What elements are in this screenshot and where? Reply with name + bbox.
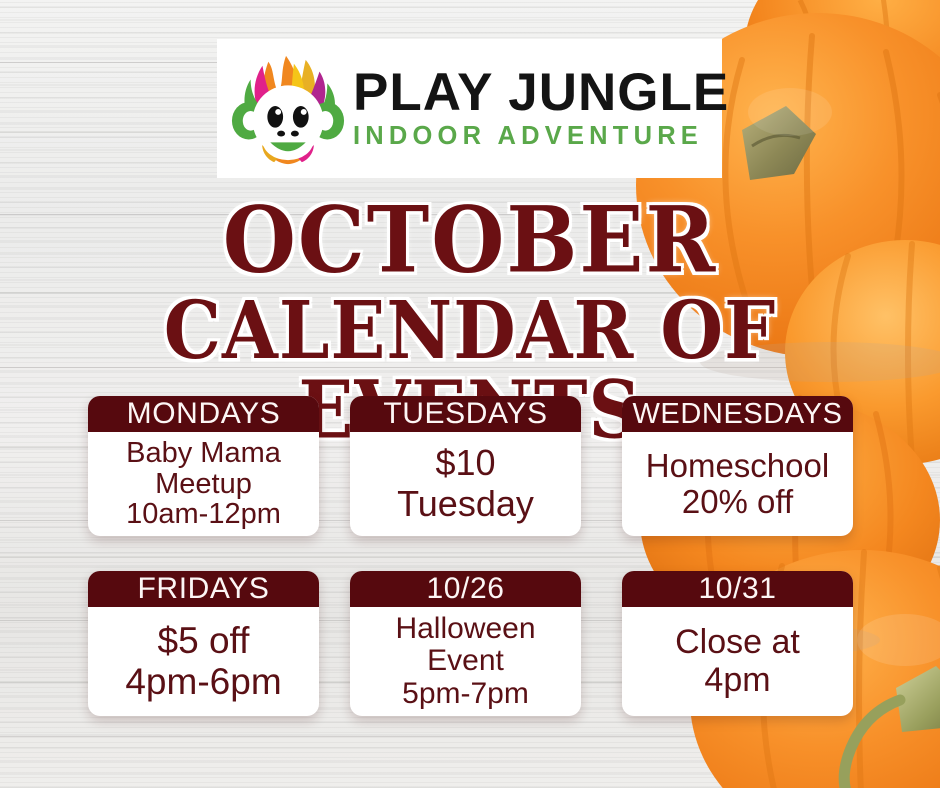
event-card-header: MONDAYS: [88, 396, 319, 432]
event-card-header: FRIDAYS: [88, 571, 319, 607]
event-line: $10: [435, 443, 495, 484]
event-card-body: $5 off 4pm-6pm: [88, 607, 319, 716]
event-card-fridays[interactable]: FRIDAYS $5 off 4pm-6pm: [88, 571, 319, 716]
event-card-tuesdays[interactable]: TUESDAYS $10 Tuesday: [350, 396, 581, 536]
event-line: Baby Mama: [126, 438, 281, 469]
event-card-body: Halloween Event 5pm-7pm: [350, 607, 581, 716]
event-card-header: TUESDAYS: [350, 396, 581, 432]
event-line: Close at: [675, 624, 800, 661]
event-line: Tuesday: [397, 484, 534, 525]
event-card-header: 10/31: [622, 571, 853, 607]
event-card-body: Homeschool 20% off: [622, 432, 853, 536]
event-card-body: Baby Mama Meetup 10am-12pm: [88, 432, 319, 536]
event-card-header: 10/26: [350, 571, 581, 607]
events-grid: MONDAYS Baby Mama Meetup 10am-12pm TUESD…: [0, 0, 940, 788]
october-calendar-poster: PLAY JUNGLE INDOOR ADVENTURE OCTOBER CAL…: [0, 0, 940, 788]
event-card-oct-26[interactable]: 10/26 Halloween Event 5pm-7pm: [350, 571, 581, 716]
event-line: $5 off: [158, 621, 250, 662]
event-line: 5pm-7pm: [402, 678, 529, 710]
event-card-body: Close at 4pm: [622, 607, 853, 716]
event-line: Halloween: [395, 613, 535, 645]
event-card-mondays[interactable]: MONDAYS Baby Mama Meetup 10am-12pm: [88, 396, 319, 536]
event-line: 10am-12pm: [126, 499, 281, 530]
event-card-header: WEDNESDAYS: [622, 396, 853, 432]
event-line: 4pm: [704, 662, 770, 699]
event-line: Event: [427, 645, 504, 677]
event-line: 4pm-6pm: [125, 662, 281, 703]
event-line: Homeschool: [646, 448, 829, 484]
event-card-wednesdays[interactable]: WEDNESDAYS Homeschool 20% off: [622, 396, 853, 536]
event-line: Meetup: [155, 469, 252, 500]
event-card-body: $10 Tuesday: [350, 432, 581, 536]
event-card-oct-31[interactable]: 10/31 Close at 4pm: [622, 571, 853, 716]
event-line: 20% off: [682, 484, 793, 520]
